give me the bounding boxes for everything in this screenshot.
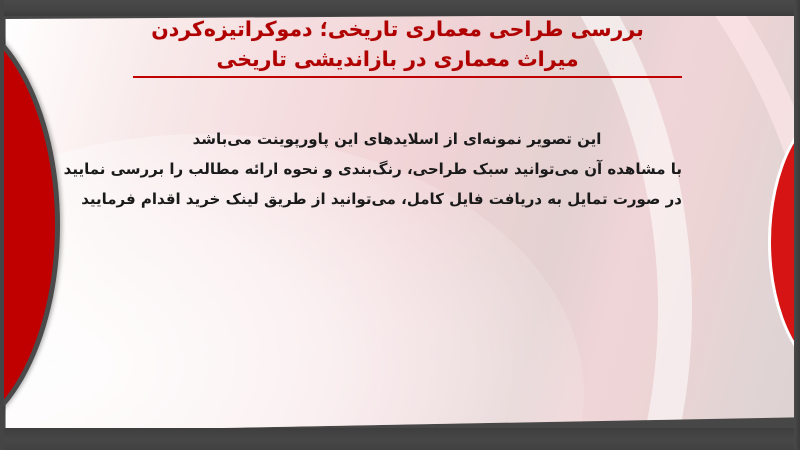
slide-body-line-2: با مشاهده آن می‌توانید سبک طراحی، رنگ‌بن… [112, 154, 682, 184]
slide-body-text: این تصویر نمونه‌ای از اسلایدهای این پاور… [112, 124, 682, 214]
slide-frame-bottom-bar [0, 428, 800, 450]
slide-content: بررسی طراحی معماری تاریخی؛ دموکراتیزه‌کر… [0, 0, 800, 450]
slide-frame-left-edge [0, 0, 4, 450]
title-underline-rule [133, 76, 682, 78]
slide-title-line-2: میراث معماری در بازاندیشی تاریخی [115, 44, 680, 74]
slide-canvas: بررسی طراحی معماری تاریخی؛ دموکراتیزه‌کر… [0, 0, 800, 450]
slide-title-line-1: بررسی طراحی معماری تاریخی؛ دموکراتیزه‌کر… [115, 14, 680, 44]
slide-body-line-3: در صورت تمایل به دریافت فایل کامل، می‌تو… [112, 184, 682, 214]
slide-frame-right-edge [794, 0, 800, 450]
slide-frame-top-bar [0, 0, 800, 16]
slide-body-line-1: این تصویر نمونه‌ای از اسلایدهای این پاور… [112, 124, 682, 154]
slide-title: بررسی طراحی معماری تاریخی؛ دموکراتیزه‌کر… [115, 14, 680, 74]
